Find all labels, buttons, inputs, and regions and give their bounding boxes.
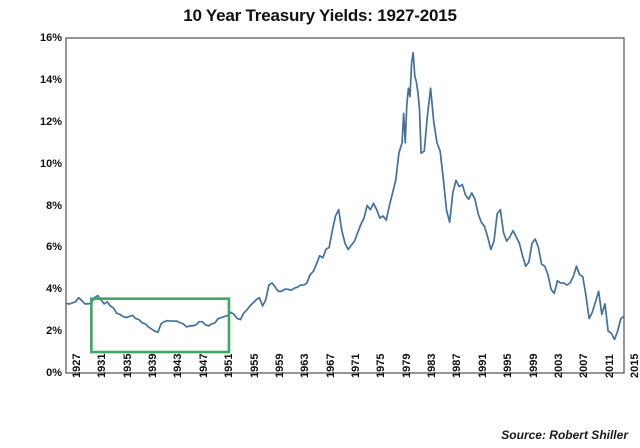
- x-axis-tick-label: 1987: [451, 354, 463, 378]
- x-axis-tick-label: 1967: [325, 354, 337, 378]
- x-axis-tick-label: 1955: [249, 354, 261, 378]
- x-axis-tick-label: 2011: [604, 354, 616, 378]
- chart-container: 10 Year Treasury Yields: 1927-2015 0%2%4…: [0, 0, 640, 448]
- x-axis-tick-label: 1971: [350, 354, 362, 378]
- x-axis-labels: 1927193119351939194319471951195519591963…: [0, 0, 640, 448]
- x-axis-tick-label: 1963: [299, 354, 311, 378]
- x-axis-tick-label: 1943: [172, 354, 184, 378]
- x-axis-tick-label: 1999: [528, 354, 540, 378]
- x-axis-tick-label: 1947: [198, 354, 210, 378]
- x-axis-tick-label: 1935: [122, 354, 134, 378]
- x-axis-tick-label: 1959: [274, 354, 286, 378]
- x-axis-tick-label: 2003: [553, 354, 565, 378]
- x-axis-tick-label: 1951: [223, 354, 235, 378]
- x-axis-tick-label: 1939: [147, 354, 159, 378]
- x-axis-tick-label: 1931: [96, 354, 108, 378]
- x-axis-tick-label: 2015: [629, 354, 640, 378]
- x-axis-tick-label: 1979: [401, 354, 413, 378]
- x-axis-tick-label: 2007: [578, 354, 590, 378]
- x-axis-tick-label: 1995: [502, 354, 514, 378]
- x-axis-tick-label: 1975: [375, 354, 387, 378]
- x-axis-tick-label: 1983: [426, 354, 438, 378]
- x-axis-tick-label: 1991: [477, 354, 489, 378]
- x-axis-tick-label: 1927: [71, 354, 83, 378]
- source-note: Source: Robert Shiller: [501, 428, 628, 442]
